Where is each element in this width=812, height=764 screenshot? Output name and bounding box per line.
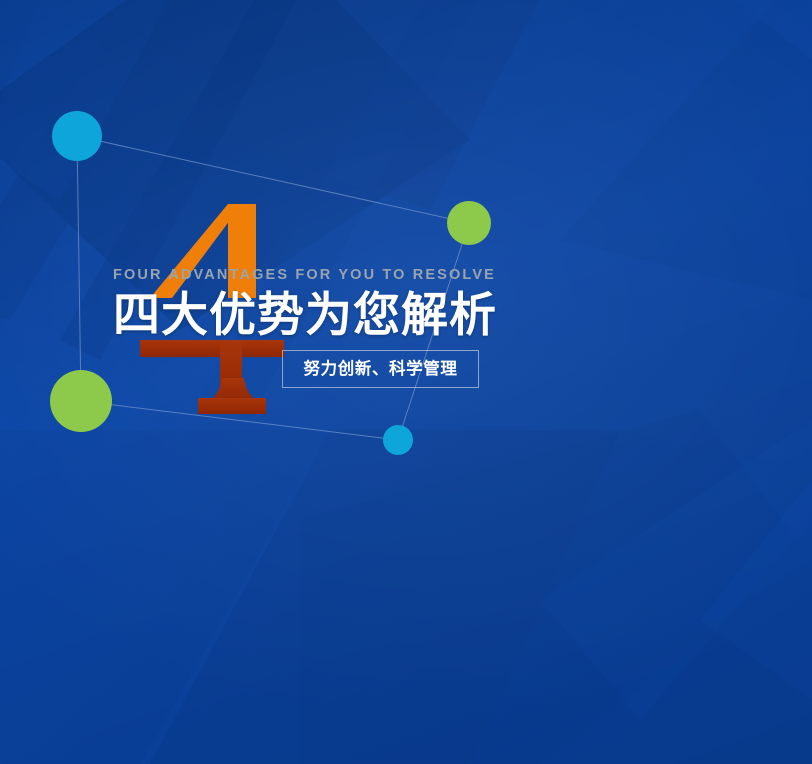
tagline-text: 努力创新、科学管理 — [304, 361, 458, 378]
node-cyan-top-left — [52, 111, 102, 161]
promo-banner: FOUR ADVANTAGES FOR YOU TO RESOLVE 四大优势为… — [0, 0, 812, 764]
node-cyan-bottom — [383, 425, 413, 455]
node-green-bottom-left — [50, 370, 112, 432]
deco-rust-base — [140, 340, 284, 414]
page-title: 四大优势为您解析 — [113, 289, 753, 341]
node-green-top-right — [447, 201, 491, 245]
eyebrow-text: FOUR ADVANTAGES FOR YOU TO RESOLVE — [113, 268, 753, 283]
headline-group: FOUR ADVANTAGES FOR YOU TO RESOLVE 四大优势为… — [113, 268, 753, 340]
link-cyan-top-to-green-left — [77, 136, 81, 401]
tagline-badge: 努力创新、科学管理 — [282, 350, 479, 388]
